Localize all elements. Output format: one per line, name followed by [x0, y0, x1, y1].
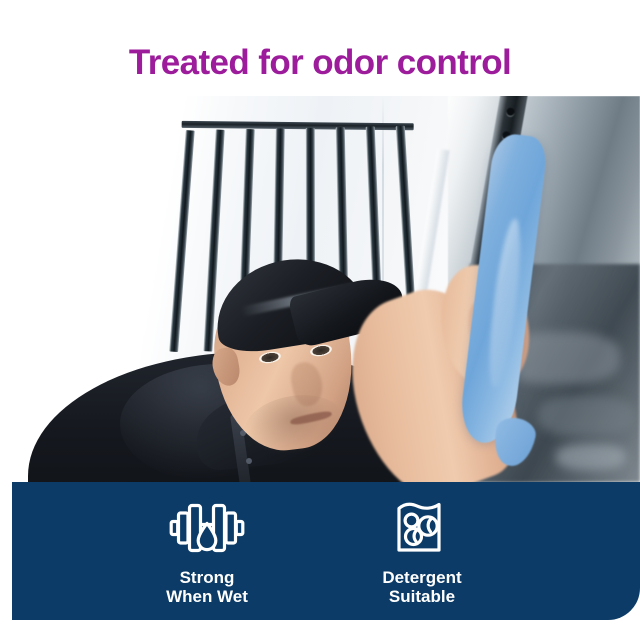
rail-hole: [506, 107, 515, 116]
feature-label: Detergent Suitable: [382, 568, 461, 606]
feature-banner: Strong When Wet: [12, 482, 640, 620]
feature-label-line2: Suitable: [389, 587, 455, 606]
feature-label: Strong When Wet: [166, 568, 248, 606]
feature-label-line1: Strong: [180, 568, 235, 587]
page-title: Treated for odor control: [0, 42, 640, 84]
steel-smudge: [556, 444, 626, 470]
product-feature-image: Treated for odor control: [0, 0, 640, 640]
product-photo: [0, 96, 640, 482]
dumbbell-water-drop-icon: [169, 500, 245, 556]
feature-label-line1: Detergent: [382, 568, 461, 587]
feature-detergent-suitable: Detergent Suitable: [367, 482, 477, 606]
steel-smudge: [538, 396, 634, 436]
detergent-tub-bubbles-icon: [395, 500, 449, 556]
feature-strong-when-wet: Strong When Wet: [152, 482, 262, 606]
feature-label-line2: When Wet: [166, 587, 248, 606]
polo-button: [246, 458, 252, 464]
feature-list: Strong When Wet: [152, 482, 532, 620]
